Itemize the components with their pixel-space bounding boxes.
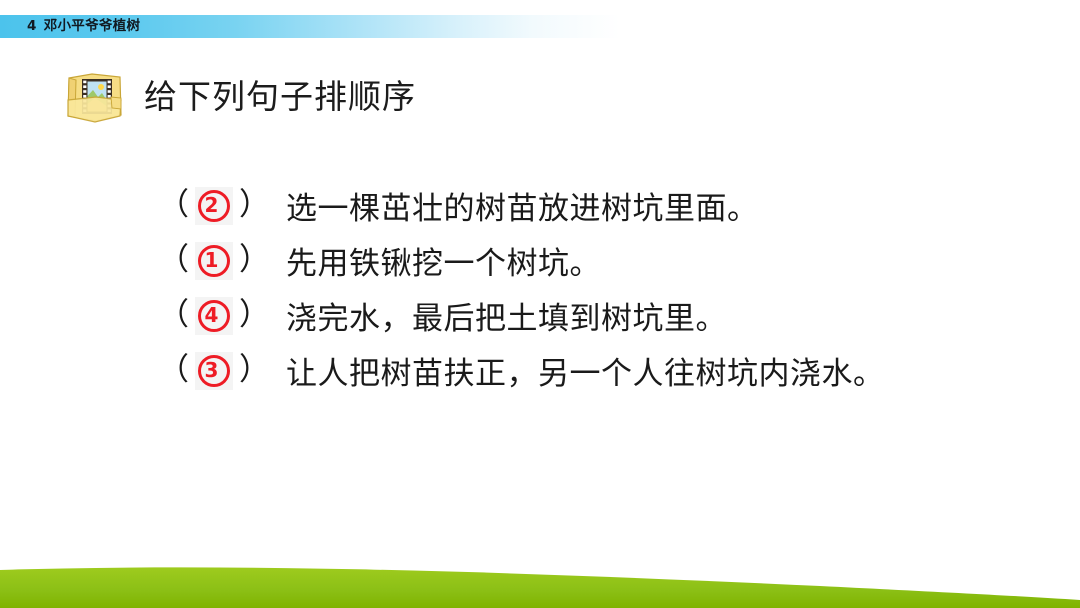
paren-open: （ (158, 355, 189, 386)
section-heading: 给下列句子排顺序 (62, 66, 416, 126)
sentence-order-list: （ 2 ） 选一棵茁壮的树苗放进树坑里面。 （ 1 ） 先用铁锹挖一个树坑。 （… (158, 178, 1038, 398)
lesson-title: 邓小平爷爷植树 (44, 18, 141, 34)
list-item[interactable]: （ 1 ） 先用铁锹挖一个树坑。 (158, 233, 1038, 288)
list-item[interactable]: （ 4 ） 浇完水，最后把土填到树坑里。 (158, 288, 1038, 343)
answer-digit: 2 (205, 195, 219, 215)
paren-close: ） (239, 355, 270, 386)
answer-circled-number[interactable]: 3 (195, 352, 233, 390)
page-title: 给下列句子排顺序 (144, 80, 416, 113)
slide-canvas: 4邓小平爷爷植树 (0, 0, 1080, 608)
answer-circled-number[interactable]: 2 (195, 187, 233, 225)
paren-open: （ (158, 245, 189, 276)
paren-close: ） (239, 245, 270, 276)
sentence-text: 先用铁锹挖一个树坑。 (286, 238, 601, 283)
answer-circled-number[interactable]: 4 (195, 297, 233, 335)
lesson-number: 4 (27, 18, 37, 34)
list-item[interactable]: （ 2 ） 选一棵茁壮的树苗放进树坑里面。 (158, 178, 1038, 233)
green-hill-decoration (0, 548, 1080, 608)
answer-circled-number[interactable]: 1 (195, 242, 233, 280)
breadcrumb: 4邓小平爷爷植树 (27, 15, 140, 38)
answer-digit: 1 (205, 250, 219, 270)
answer-digit: 3 (205, 360, 219, 380)
paren-close: ） (239, 300, 270, 331)
paren-open: （ (158, 300, 189, 331)
film-folder-icon (62, 66, 128, 126)
paren-close: ） (239, 190, 270, 221)
paren-open: （ (158, 190, 189, 221)
sentence-text: 浇完水，最后把土填到树坑里。 (286, 293, 727, 338)
answer-digit: 4 (205, 305, 219, 325)
sentence-text: 选一棵茁壮的树苗放进树坑里面。 (286, 183, 759, 228)
list-item[interactable]: （ 3 ） 让人把树苗扶正，另一个人往树坑内浇水。 (158, 343, 1038, 398)
sentence-text: 让人把树苗扶正，另一个人往树坑内浇水。 (286, 348, 885, 393)
